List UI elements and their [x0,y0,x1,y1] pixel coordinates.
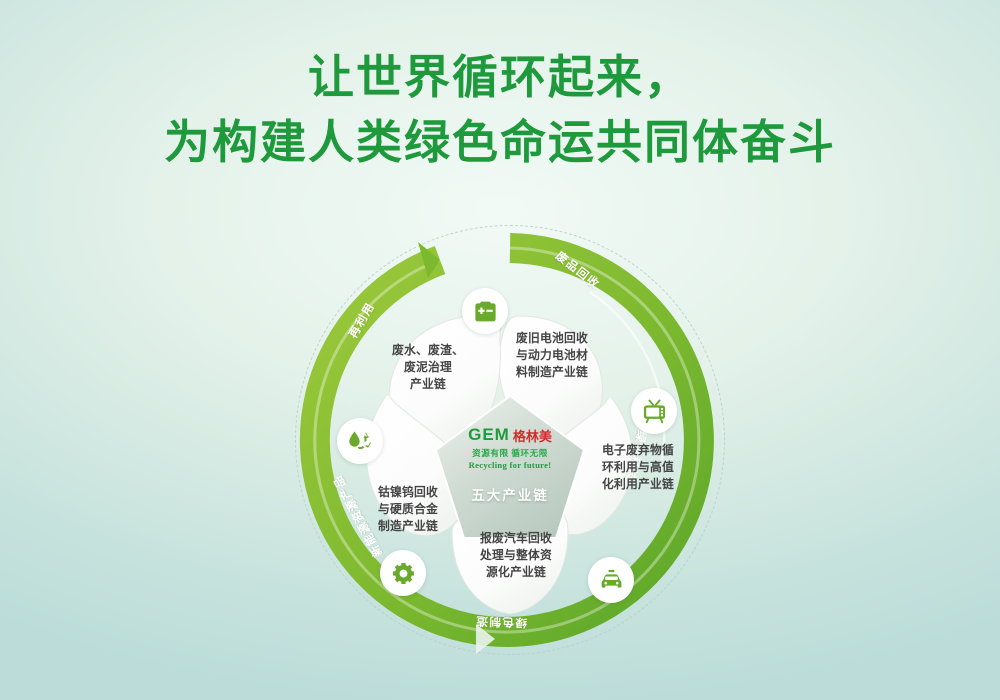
car-icon [588,557,634,603]
page-title: 让世界循环起来， 为构建人类绿色命运共同体奋斗 [0,48,1000,172]
gem-chinese-name: 格林美 [513,426,552,445]
petal-car-line-2: 处理与整体资 [460,547,572,564]
petal-water-line-1: 废水、废渣、 [372,342,484,359]
petal-ewaste-line-2: 环利用与高值 [582,459,694,476]
pentagon-label: 五大产业链 [436,484,584,504]
petal-water-line-2: 废泥治理 [372,359,484,376]
petal-water-line-3: 产业链 [372,376,484,393]
petal-battery-line-3: 料制造产业链 [496,364,608,381]
petal-car-line-3: 源化产业链 [460,564,572,581]
logo-slogan-en: Recycling for future! [436,460,584,470]
title-line-2: 为构建人类绿色命运共同体奋斗 [0,113,1000,172]
petal-text-battery: 废旧电池回收 与动力电池材 料制造产业链 [496,330,608,381]
petal-battery-line-1: 废旧电池回收 [496,330,608,347]
gear-icon [380,550,426,596]
gem-wordmark: GEM [468,425,510,445]
petal-battery-line-2: 与动力电池材 [496,347,608,364]
center-pentagon: GEM 格林美 资源有限 循环无限 Recycling for future! … [436,400,584,542]
petal-text-water-waste: 废水、废渣、 废泥治理 产业链 [372,342,484,393]
tv-icon [631,388,677,434]
title-line-1: 让世界循环起来， [0,48,1000,107]
circular-diagram: 再利用 废品回收 绿色科技 绿色制造 新能源资源产品 废旧电池回收 与动力电池材… [290,220,730,670]
petal-text-e-waste: 电子废弃物循 环利用与高值 化利用产业链 [582,442,694,493]
water-recycle-icon [337,418,383,464]
infographic-canvas: 让世界循环起来， 为构建人类绿色命运共同体奋斗 [0,0,1000,700]
petal-ewaste-line-1: 电子废弃物循 [582,442,694,459]
battery-icon [462,288,508,334]
gem-logo: GEM 格林美 资源有限 循环无限 Recycling for future! [436,425,584,470]
petal-ewaste-line-3: 化利用产业链 [582,476,694,493]
logo-slogan-cn: 资源有限 循环无限 [436,447,584,459]
ring-label-green-manufacturing: 绿色制造 [475,613,528,631]
